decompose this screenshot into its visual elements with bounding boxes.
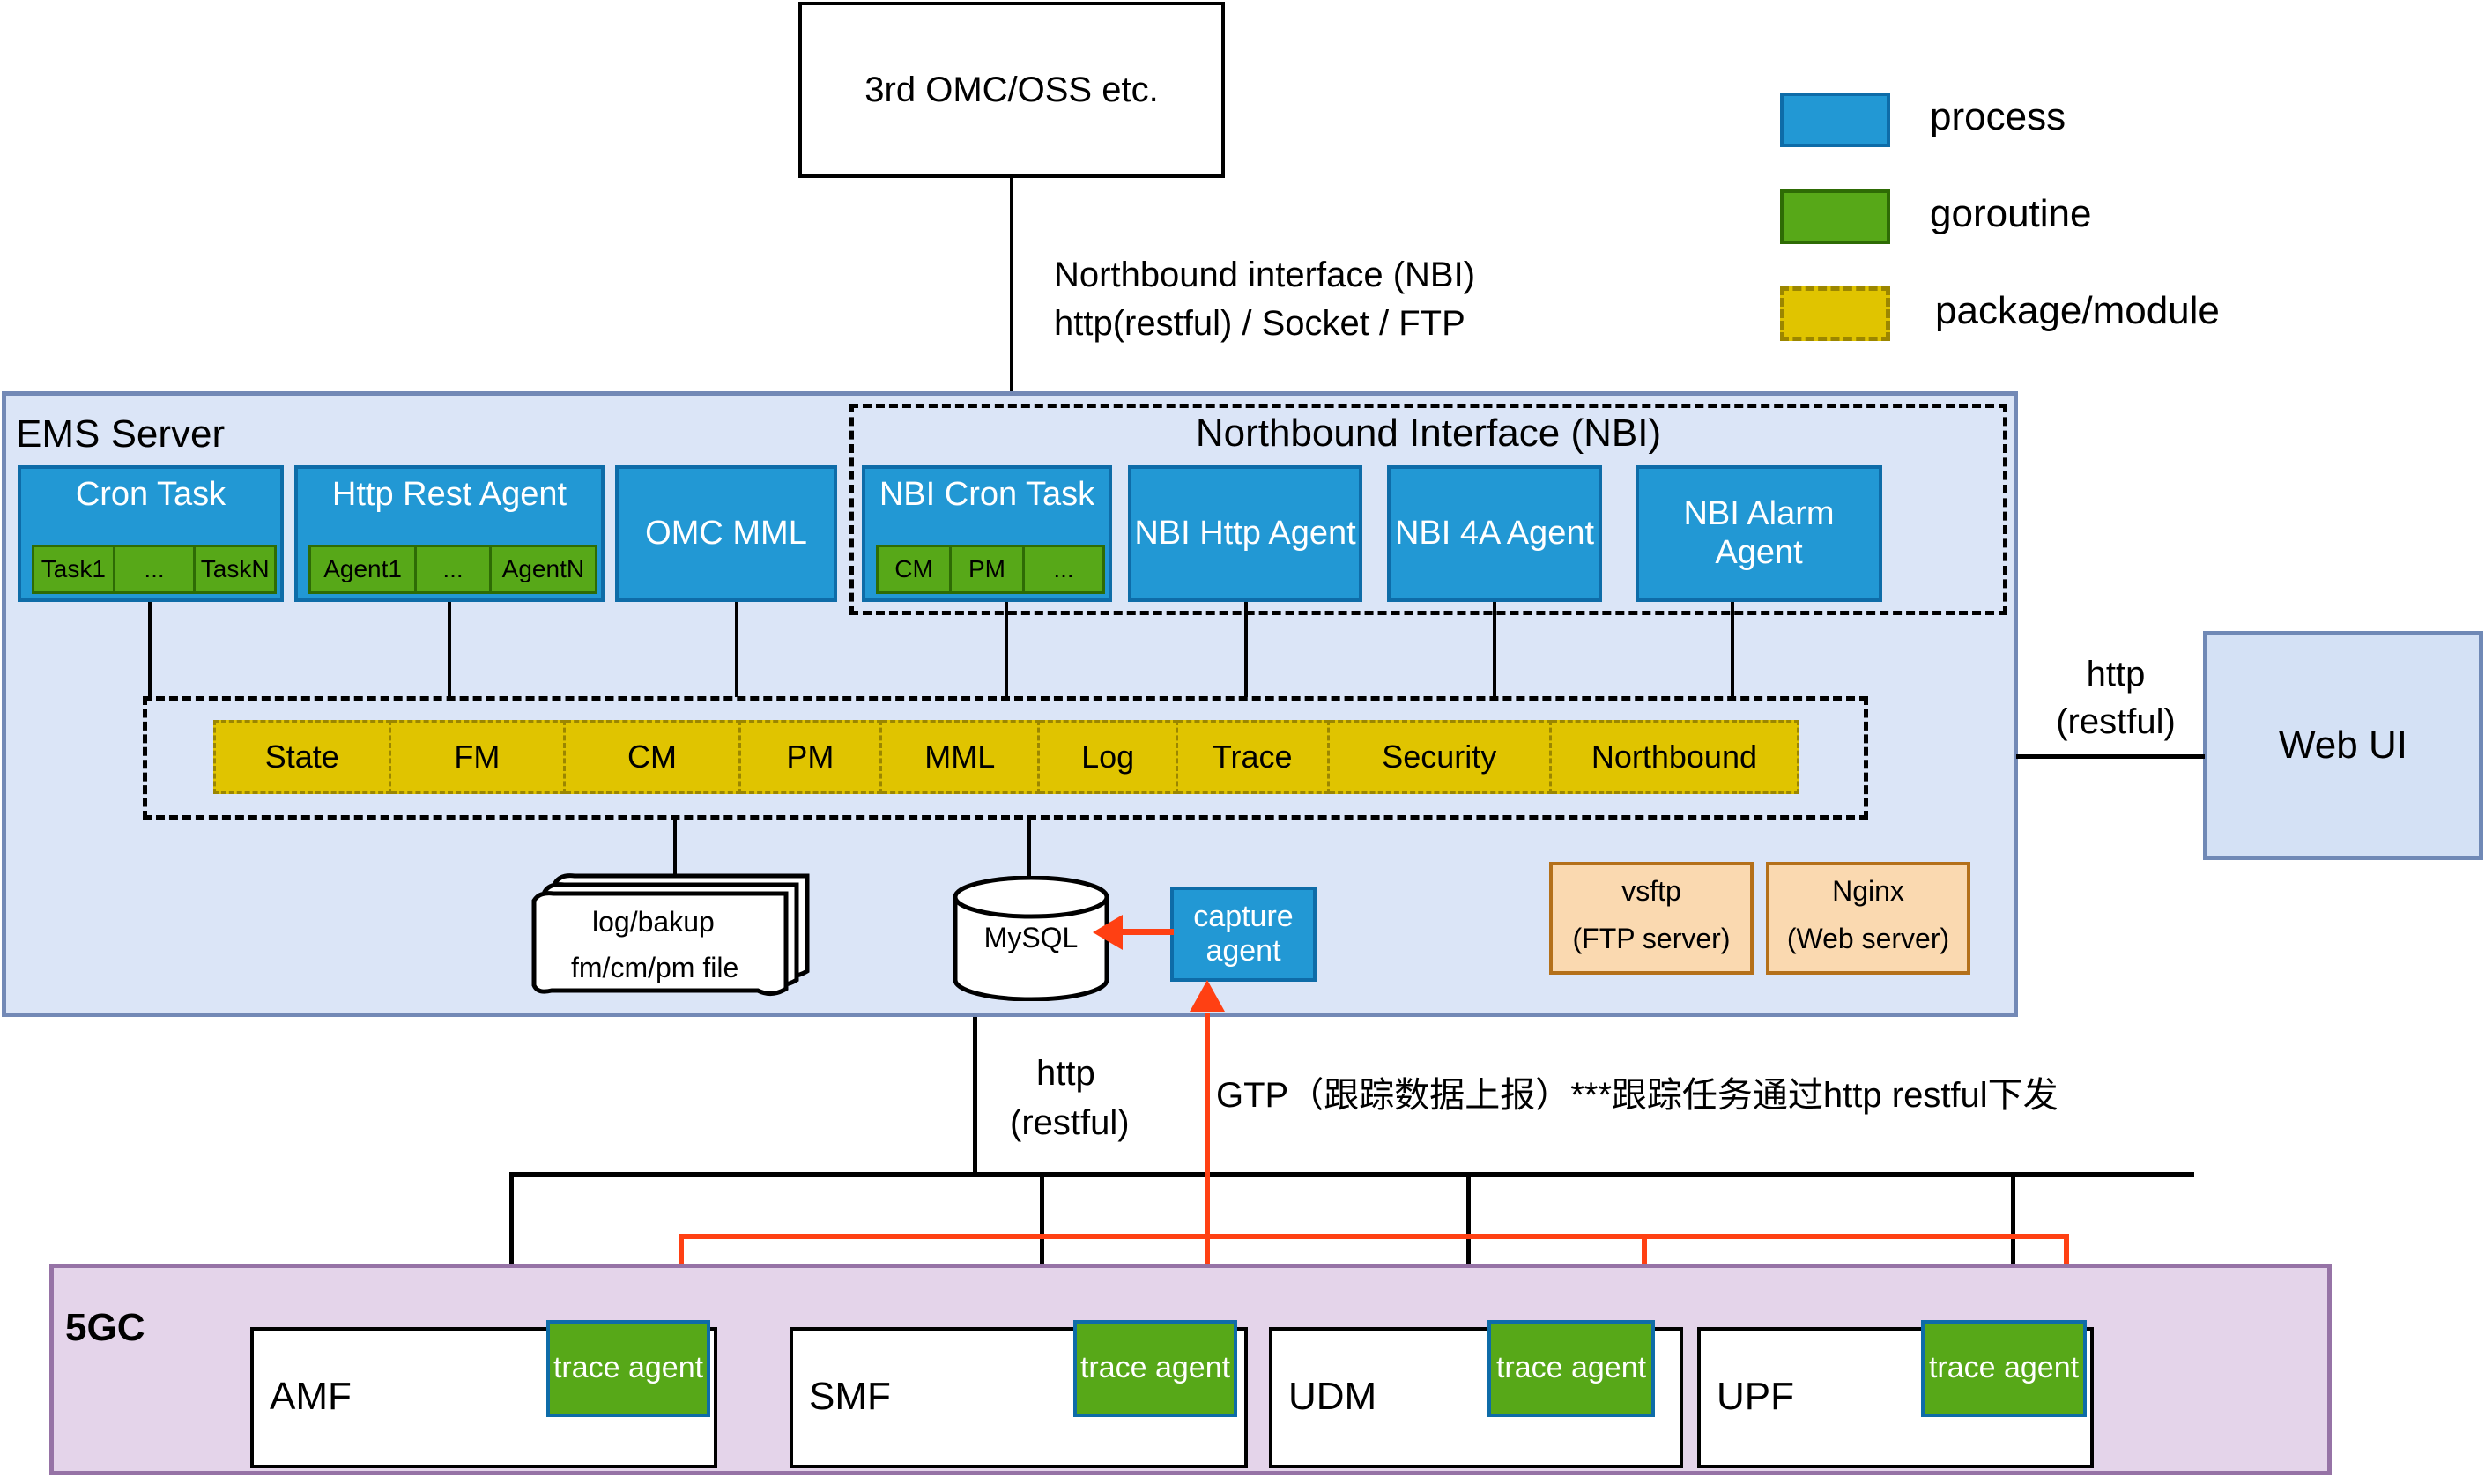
legend-swatch-process (1780, 93, 1890, 147)
goroutine-agentn[interactable]: AgentN (492, 545, 597, 594)
ems-server-title: EMS Server (16, 412, 225, 456)
goroutine-task1[interactable]: Task1 (32, 545, 115, 594)
legend-swatch-package (1780, 286, 1890, 341)
goroutine-agent1[interactable]: Agent1 (308, 545, 417, 594)
module-fm[interactable]: FM (391, 720, 567, 794)
connector-omc-mml-to-modules (735, 602, 738, 697)
5gc-title: 5GC (65, 1306, 145, 1350)
module-northbound[interactable]: Northbound (1552, 720, 1799, 794)
legend-label-package: package/module (1935, 289, 2220, 333)
file-store-label-line2: fm/cm/pm file (571, 952, 738, 984)
process-http-rest-agent[interactable]: Http Rest Agent Agent1 ... AgentN (294, 465, 605, 602)
nbi-link-label-line2: http(restful) / Socket / FTP (1054, 304, 1465, 344)
goroutine-taskn[interactable]: TaskN (196, 545, 277, 594)
nbi-region-title: Northbound Interface (NBI) (849, 407, 2007, 460)
ems-5gc-http-label-line2: (restful) (1010, 1103, 1130, 1143)
nginx-label-line2: (Web server) (1769, 916, 1967, 961)
trace-agent-amf[interactable]: trace agent (546, 1320, 710, 1417)
module-mml[interactable]: MML (882, 720, 1040, 794)
oss-to-ems-connector (1010, 178, 1013, 395)
web-ui-box[interactable]: Web UI (2203, 631, 2483, 860)
third-party-omc-oss-box[interactable]: 3rd OMC/OSS etc. (798, 2, 1225, 178)
process-nbi-4a-agent-label: NBI 4A Agent (1395, 515, 1594, 553)
file-store-label-line1: log/bakup (592, 906, 715, 939)
legend-item-goroutine: goroutine (1780, 185, 2397, 249)
process-nbi-alarm-agent[interactable]: NBI Alarm Agent (1636, 465, 1882, 602)
nginx-label-line1: Nginx (1769, 865, 1967, 916)
capture-to-mysql-arrowhead (1093, 913, 1124, 952)
nf-label-upf: UPF (1717, 1375, 1794, 1419)
connector-cron-task-to-modules (148, 602, 152, 697)
connector-modules-to-mysql (1027, 820, 1031, 878)
process-cron-task-label: Cron Task (21, 469, 280, 522)
gtp-trunk-to-capture-agent (1205, 1013, 1210, 1234)
legend-label-goroutine: goroutine (1930, 192, 2091, 236)
webui-link-label-line2: (restful) (2032, 701, 2199, 742)
trace-agent-smf[interactable]: trace agent (1073, 1320, 1237, 1417)
vsftp-label-line2: (FTP server) (1553, 916, 1750, 961)
trace-agent-udm-label: trace agent (1496, 1351, 1646, 1385)
goroutine-pm[interactable]: PM (952, 545, 1025, 594)
ems-to-5gc-http-trunk (973, 1017, 977, 1176)
process-nbi-alarm-agent-label: NBI Alarm Agent (1639, 495, 1879, 572)
goroutine-agent-ellipsis[interactable]: ... (417, 545, 492, 594)
process-cron-task[interactable]: Cron Task Task1 ... TaskN (18, 465, 284, 602)
module-security[interactable]: Security (1330, 720, 1552, 794)
connector-nbi-4a-agent-to-modules (1493, 602, 1496, 697)
gtp-horizontal-bus (679, 1234, 2069, 1239)
process-nbi-cron-task[interactable]: NBI Cron Task CM PM ... (862, 465, 1112, 602)
module-pm[interactable]: PM (741, 720, 882, 794)
module-trace[interactable]: Trace (1178, 720, 1330, 794)
mysql-label: MySQL (950, 920, 1112, 955)
vsftp-label-line1: vsftp (1553, 865, 1750, 916)
connector-nbi-cron-task-to-modules (1005, 602, 1008, 697)
goroutine-row-cron-task: Task1 ... TaskN (32, 545, 277, 594)
mysql-database[interactable]: MySQL (950, 876, 1112, 1001)
nf-label-amf: AMF (270, 1375, 352, 1419)
architecture-diagram: 3rd OMC/OSS etc. Northbound interface (N… (0, 0, 2485, 1484)
legend: process goroutine package/module (1780, 88, 2397, 344)
process-nbi-http-agent[interactable]: NBI Http Agent (1128, 465, 1362, 602)
module-bar: State FM CM PM MML Log Trace Security No… (213, 720, 1799, 794)
legend-item-process: process (1780, 88, 2397, 152)
ems-5gc-http-label-line1: http (1036, 1054, 1095, 1094)
module-log[interactable]: Log (1040, 720, 1177, 794)
process-nbi-4a-agent[interactable]: NBI 4A Agent (1387, 465, 1602, 602)
trace-agent-smf-label: trace agent (1080, 1351, 1230, 1385)
legend-label-process: process (1930, 95, 2066, 139)
goroutine-cm[interactable]: CM (876, 545, 952, 594)
goroutine-task-ellipsis[interactable]: ... (115, 545, 197, 594)
module-state[interactable]: State (213, 720, 391, 794)
connector-http-rest-agent-to-modules (448, 602, 451, 697)
process-nbi-http-agent-label: NBI Http Agent (1134, 515, 1355, 553)
legend-swatch-goroutine (1780, 189, 1890, 244)
goroutine-row-nbi-cron-task: CM PM ... (876, 545, 1105, 594)
trace-agent-udm[interactable]: trace agent (1487, 1320, 1655, 1417)
vsftp-server-box[interactable]: vsftp (FTP server) (1549, 862, 1754, 975)
nf-label-smf: SMF (809, 1375, 891, 1419)
connector-nbi-alarm-agent-to-modules (1731, 602, 1734, 697)
third-party-omc-oss-label: 3rd OMC/OSS etc. (864, 70, 1158, 110)
file-store-stack: log/bakup fm/cm/pm file (529, 860, 828, 1001)
goroutine-nbi-ellipsis[interactable]: ... (1025, 545, 1105, 594)
module-cm[interactable]: CM (566, 720, 741, 794)
process-nbi-cron-task-label: NBI Cron Task (865, 469, 1109, 522)
trace-agent-upf[interactable]: trace agent (1921, 1320, 2087, 1417)
gtp-trunk-arrowhead (1188, 980, 1227, 1019)
capture-agent-label: capture agent (1174, 900, 1313, 968)
5gc-http-horizontal-bus (509, 1172, 2194, 1177)
connector-nbi-http-agent-to-modules (1244, 602, 1248, 697)
legend-item-package: package/module (1780, 282, 2397, 345)
process-omc-mml[interactable]: OMC MML (615, 465, 837, 602)
webui-link-label-line1: http (2032, 654, 2199, 694)
web-ui-label: Web UI (2279, 723, 2407, 768)
gtp-note-label: GTP（跟踪数据上报）***跟踪任务通过http restful下发 (1216, 1066, 2058, 1117)
ems-to-webui-connector (2016, 754, 2205, 759)
nginx-server-box[interactable]: Nginx (Web server) (1766, 862, 1970, 975)
goroutine-row-http-rest-agent: Agent1 ... AgentN (308, 545, 597, 594)
nbi-link-label-line1: Northbound interface (NBI) (1054, 256, 1475, 295)
capture-agent-process[interactable]: capture agent (1170, 887, 1317, 982)
process-http-rest-agent-label: Http Rest Agent (298, 469, 601, 522)
trace-agent-amf-label: trace agent (553, 1351, 703, 1385)
process-omc-mml-label: OMC MML (645, 515, 807, 553)
trace-agent-upf-label: trace agent (1929, 1351, 2079, 1385)
nf-label-udm: UDM (1288, 1375, 1376, 1419)
